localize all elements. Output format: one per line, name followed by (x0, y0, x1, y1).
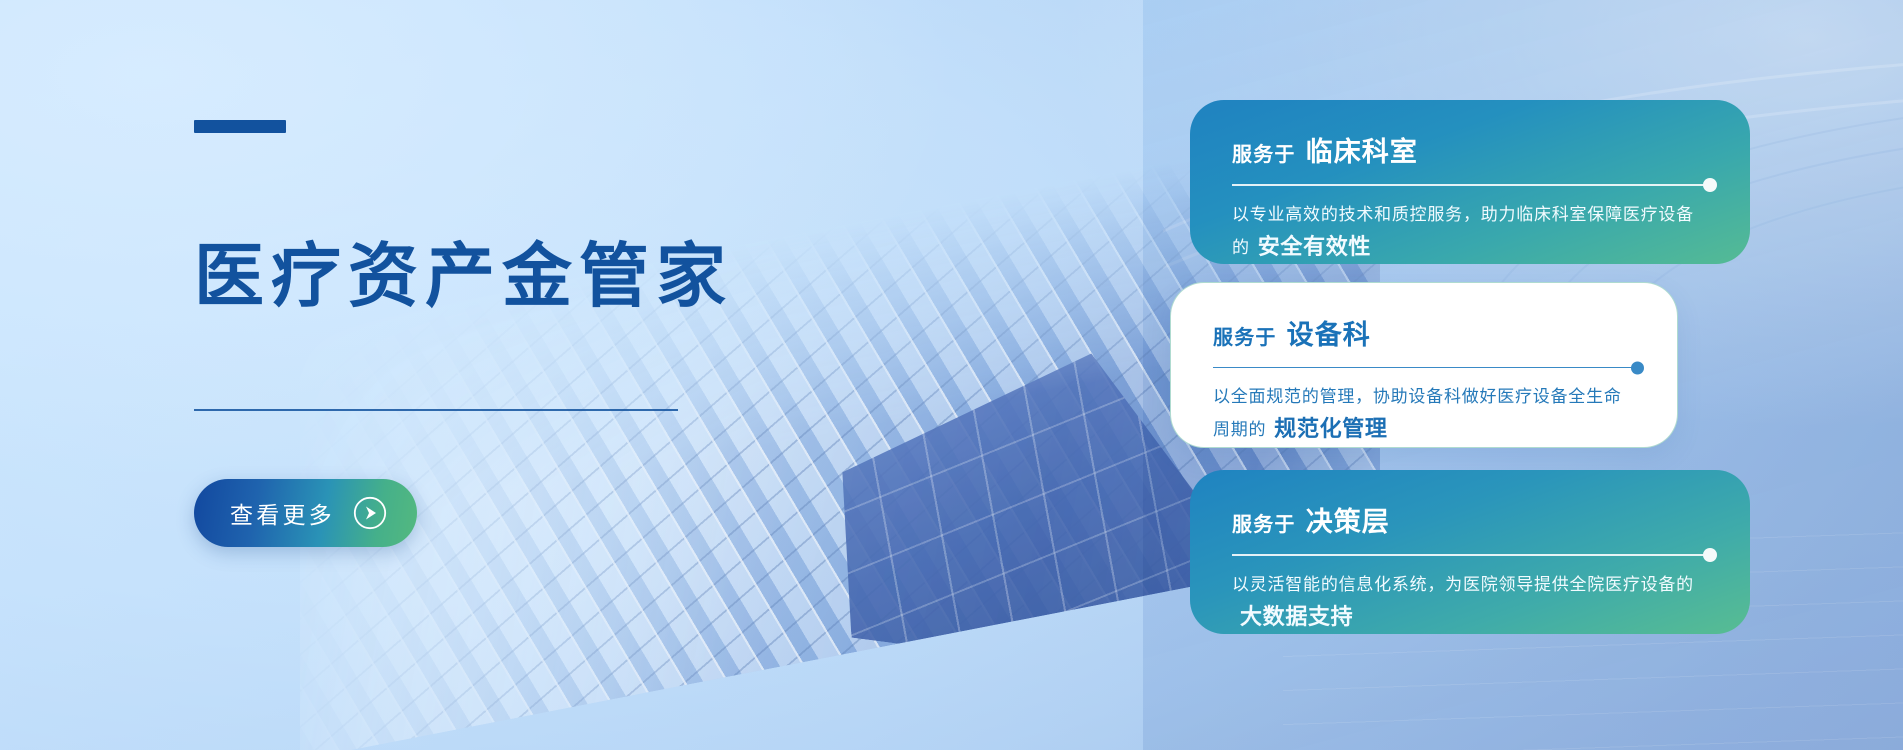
card-emphasis: 规范化管理 (1274, 416, 1387, 441)
card-body: 以灵活智能的信息化系统，为医院领导提供全院医疗设备的大数据支持 (1232, 571, 1710, 634)
view-more-label: 查看更多 (230, 496, 335, 530)
card-body: 以专业高效的技术和质控服务，助力临床科室保障医疗设备的安全有效性 (1232, 201, 1710, 264)
card-subject: 临床科室 (1306, 130, 1418, 169)
card-heading: 服务于 临床科室 (1232, 130, 1710, 169)
card-divider (1213, 367, 1637, 368)
card-emphasis: 安全有效性 (1258, 234, 1371, 259)
card-heading: 服务于 决策层 (1232, 500, 1710, 539)
hero-banner: 医疗资产金管家 查看更多 服务于 临床科室 以专业高效的技术和质控服务，助力临床… (0, 0, 1903, 750)
service-card-decision[interactable]: 服务于 决策层 以灵活智能的信息化系统，为医院领导提供全院医疗设备的大数据支持 (1190, 470, 1750, 634)
card-subject: 设备科 (1287, 313, 1371, 352)
card-divider-dot (1631, 361, 1644, 374)
divider-rule (194, 409, 678, 411)
service-card-clinical[interactable]: 服务于 临床科室 以专业高效的技术和质控服务，助力临床科室保障医疗设备的安全有效… (1190, 100, 1750, 264)
arrow-right-circle-icon (353, 496, 387, 530)
card-prefix: 服务于 (1232, 508, 1296, 537)
card-heading: 服务于 设备科 (1213, 313, 1637, 352)
card-prefix: 服务于 (1213, 321, 1277, 350)
service-cards: 服务于 临床科室 以专业高效的技术和质控服务，助力临床科室保障医疗设备的安全有效… (1190, 0, 1903, 750)
card-divider (1232, 554, 1710, 556)
card-divider (1232, 184, 1710, 186)
hero-left-column: 医疗资产金管家 查看更多 (194, 120, 834, 547)
card-body: 以全面规范的管理，协助设备科做好医疗设备全生命周期的规范化管理 (1213, 383, 1637, 446)
card-subject: 决策层 (1306, 500, 1390, 539)
card-divider-dot (1703, 178, 1717, 192)
card-body-text: 以灵活智能的信息化系统，为医院领导提供全院医疗设备的 (1232, 575, 1694, 594)
card-emphasis: 大数据支持 (1240, 604, 1353, 629)
page-title: 医疗资产金管家 (194, 237, 834, 315)
service-card-equipment[interactable]: 服务于 设备科 以全面规范的管理，协助设备科做好医疗设备全生命周期的规范化管理 (1170, 282, 1678, 448)
accent-bar (194, 120, 286, 133)
card-divider-dot (1703, 548, 1717, 562)
view-more-button[interactable]: 查看更多 (194, 479, 417, 547)
card-prefix: 服务于 (1232, 138, 1296, 167)
